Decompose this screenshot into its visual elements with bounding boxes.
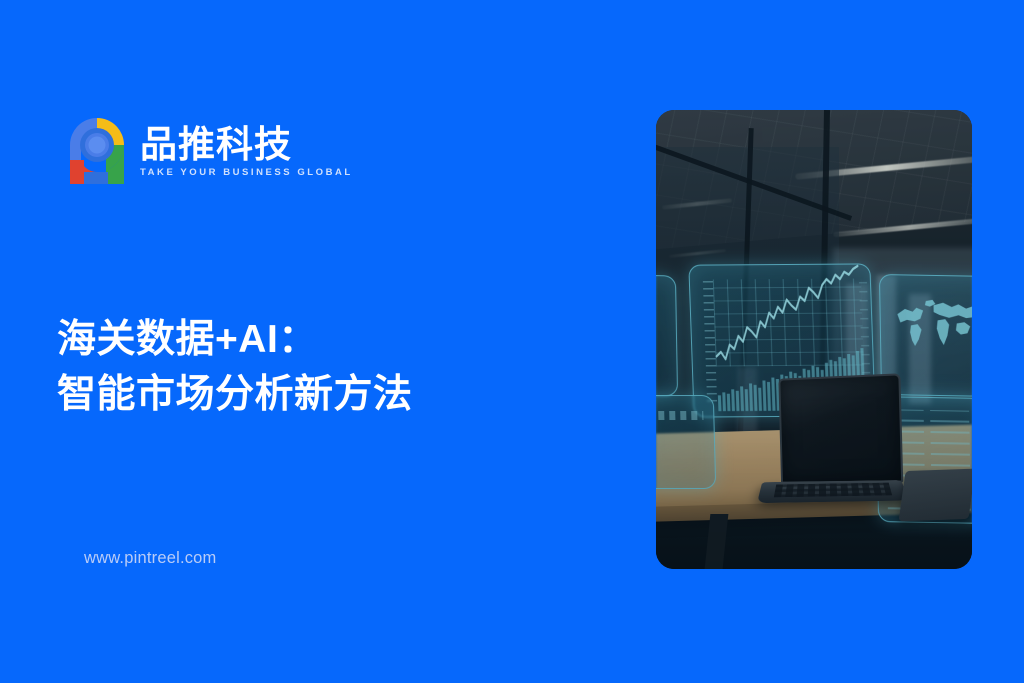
headline-line-1: 海关数据+AI： [57, 312, 413, 367]
holo-edge-panel [656, 275, 678, 397]
brand-logo[interactable]: 品推科技 TAKE YOUR BUSINESS GLOBAL [66, 114, 353, 186]
laptop-screen [778, 373, 903, 483]
office-scene [656, 110, 972, 569]
laptop [760, 376, 905, 523]
promo-banner: 品推科技 TAKE YOUR BUSINESS GLOBAL 海关数据+AI： … [0, 0, 1024, 683]
holo-edge-bars [656, 317, 670, 375]
mini-panel-header [659, 410, 704, 419]
laptop-keyboard [774, 482, 893, 497]
chart-trend-line [713, 266, 860, 359]
brand-name-cn: 品推科技 [140, 126, 353, 165]
brand-wordmark: 品推科技 TAKE YOUR BUSINESS GLOBAL [140, 122, 353, 179]
hero-photo [656, 110, 972, 569]
headline-line-2: 智能市场分析新方法 [57, 367, 413, 422]
website-url[interactable]: www.pintreel.com [84, 549, 217, 568]
world-map-icon [892, 292, 972, 368]
left-content-column: 品推科技 TAKE YOUR BUSINESS GLOBAL 海关数据+AI： … [0, 0, 620, 683]
pintreel-pa-monogram-icon [66, 114, 128, 186]
brand-tagline: TAKE YOUR BUSINESS GLOBAL [140, 167, 353, 178]
laptop-base [757, 480, 909, 503]
notebook [899, 469, 972, 522]
mini-bar-panel [656, 395, 716, 489]
page-title: 海关数据+AI： 智能市场分析新方法 [57, 312, 413, 423]
mini-bar-chart [659, 421, 705, 467]
